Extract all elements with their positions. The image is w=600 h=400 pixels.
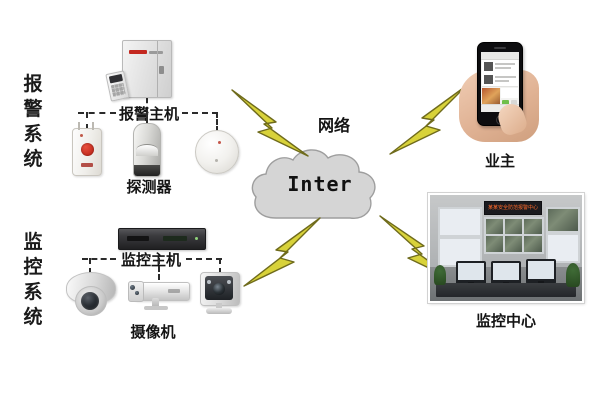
plant-icon: [434, 265, 446, 285]
phone-list-item: [482, 60, 518, 74]
panel-brand-mark: [129, 50, 147, 54]
cube-ir-led-icon: [207, 280, 211, 284]
network-label: 网络: [318, 112, 350, 136]
dvr-nvr-recorder: [118, 228, 206, 250]
plant-icon: [566, 263, 580, 287]
control-room-banner: 某某安全防范报警中心: [484, 201, 542, 215]
phone-list-item: [482, 73, 518, 87]
remote-antenna-icon: [78, 122, 80, 130]
cube-lens-icon: [213, 283, 225, 295]
phone-item-line: [495, 80, 509, 82]
cube-stand: [206, 308, 232, 314]
smoke-led-icon: [218, 141, 221, 144]
bullet-brand-mark: [168, 289, 180, 293]
diagram-canvas: 报 警 系 统 监 控 系 统 报警主机: [0, 0, 600, 400]
panic-button-remote: [72, 128, 102, 176]
pir-motion-detector: [133, 123, 161, 177]
remote-emergency-button: [81, 143, 94, 156]
phone-item-thumbnail: [484, 75, 493, 84]
section-label-char: 控: [10, 255, 56, 280]
wall-video-tile: [522, 234, 544, 254]
section-label-char: 警: [10, 97, 56, 122]
section-label-char: 监: [10, 230, 56, 255]
wall-video-tile: [546, 207, 580, 233]
dome-lens-icon: [81, 292, 99, 310]
phone-item-thumbnail: [484, 62, 493, 71]
connector-bus-right: [182, 112, 218, 114]
phone-item-line: [495, 67, 511, 69]
dvr-disc-slot: [127, 236, 149, 241]
section-label-char: 报: [10, 72, 56, 97]
smartphone-in-hand: [455, 40, 545, 142]
caption-alarm-host: 报警主机: [118, 103, 180, 124]
network-cloud-text: Inter: [252, 148, 372, 220]
pir-lens-icon: [136, 144, 158, 156]
smoke-vent-icon: [215, 159, 218, 162]
desk-monitor: [456, 261, 486, 285]
connector-bus-left: [78, 112, 116, 114]
phone-media-details: [501, 88, 518, 98]
cube-ir-led-icon: [227, 280, 231, 284]
cube-ip-camera: [200, 272, 240, 316]
section-label-char: 系: [10, 280, 56, 305]
bullet-camera: [128, 278, 190, 310]
phone-item-line: [495, 76, 516, 78]
pir-base: [134, 165, 160, 176]
section-label-surveillance-system: 监 控 系 统: [10, 230, 56, 330]
desk-monitor: [491, 261, 521, 285]
remote-led-icon: [80, 134, 83, 137]
link-bolt-nvr-to-network: [240, 216, 324, 290]
phone-item-line: [495, 63, 515, 65]
remote-brand-mark: [81, 163, 93, 167]
bullet-ir-led-icon: [130, 285, 135, 290]
control-room-desk: [436, 283, 576, 297]
caption-detectors: 探测器: [116, 176, 182, 197]
desk-monitor: [526, 259, 556, 284]
link-bolt-alarm-to-network: [228, 88, 312, 158]
keypad-screen: [109, 74, 123, 84]
desk-monitor-screen: [458, 263, 484, 280]
caption-monitoring-host: 监控主机: [118, 249, 184, 270]
connector-to-smoke: [216, 112, 218, 132]
desk-monitor-screen: [493, 263, 519, 280]
section-label-char: 统: [10, 305, 56, 330]
phone-app-header: [481, 52, 519, 60]
bullet-mount-base: [144, 306, 168, 310]
panel-door-seam: [157, 41, 158, 97]
dome-camera: [66, 272, 114, 316]
bullet-ir-led-icon: [135, 291, 139, 295]
remote-antenna-icon: [92, 122, 94, 130]
section-label-alarm-system: 报 警 系 统: [10, 72, 56, 172]
control-room-photo: 某某安全防范报警中心: [428, 193, 584, 303]
keypad-keys: [111, 83, 126, 97]
network-cloud: Inter: [252, 148, 372, 220]
wall-screen: [438, 207, 482, 237]
connector-to-bullet-camera: [158, 258, 160, 280]
dvr-power-led-icon: [195, 237, 198, 240]
caption-cameras: 摄像机: [120, 321, 186, 342]
connector-nvr-bus-left: [82, 258, 116, 260]
desk-monitor-screen: [528, 261, 554, 279]
section-label-char: 统: [10, 147, 56, 172]
caption-owner: 业主: [470, 150, 530, 171]
section-label-char: 系: [10, 122, 56, 147]
panel-brand-text: [149, 51, 163, 54]
panel-lock-icon: [159, 66, 164, 74]
alarm-control-panel: [122, 40, 172, 98]
connector-nvr-bus-right: [186, 258, 222, 260]
phone-speaker-icon: [494, 47, 506, 49]
dvr-display: [163, 236, 187, 241]
caption-monitoring-center: 监控中心: [468, 310, 544, 331]
